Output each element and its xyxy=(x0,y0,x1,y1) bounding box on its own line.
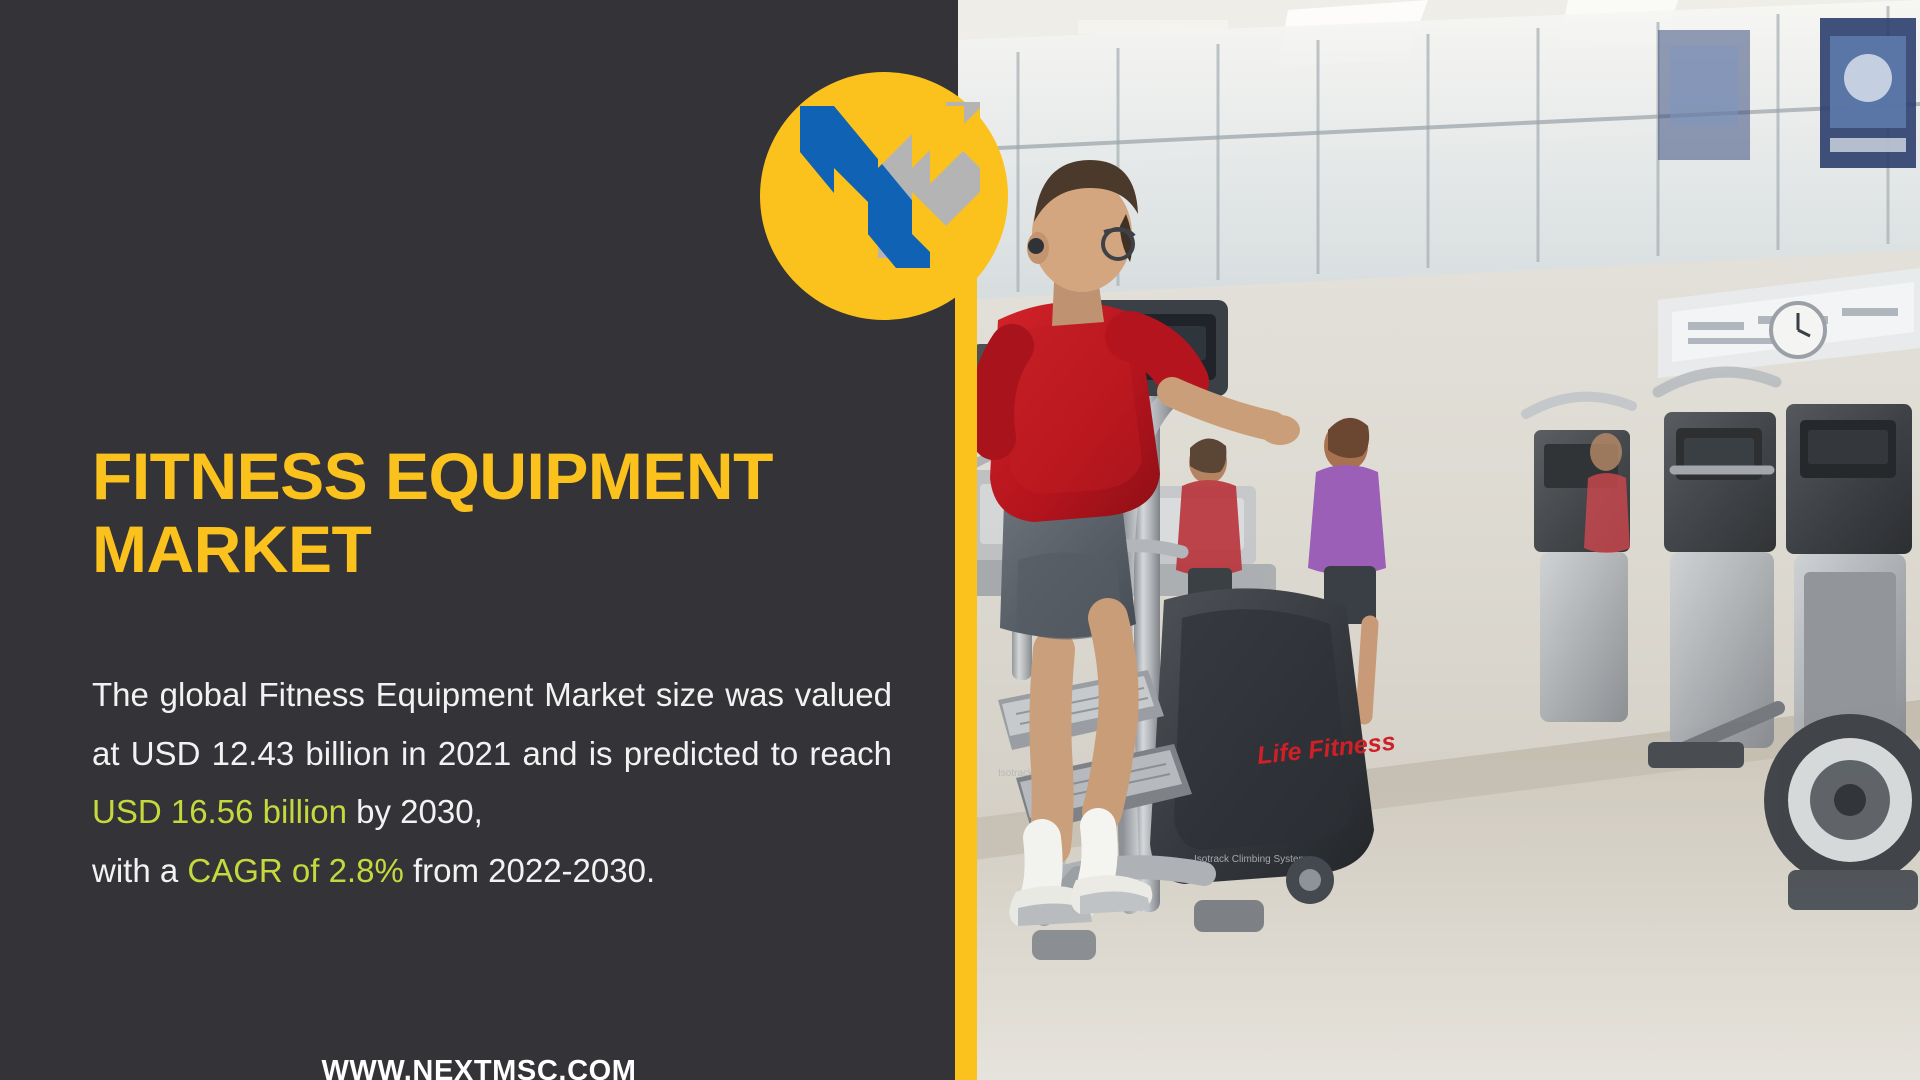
highlight-cagr: CAGR of 2.8% xyxy=(187,852,403,889)
banner-canvas: Life Fitness Isotrack Climbing System Is… xyxy=(0,0,1920,1080)
summary-segment-4: from 2022-2030. xyxy=(404,852,655,889)
summary-segment-3: with a xyxy=(92,852,187,889)
gym-photo: Life Fitness Isotrack Climbing System Is… xyxy=(958,0,1920,1080)
highlight-market-value: USD 16.56 billion xyxy=(92,793,347,830)
market-summary-text: The global Fitness Equipment Market size… xyxy=(92,666,892,901)
website-url[interactable]: WWW.NEXTMSC.COM xyxy=(0,1055,958,1080)
summary-segment-1: The global Fitness Equipment Market size… xyxy=(92,676,892,772)
title-line-1: FITNESS EQUIPMENT xyxy=(92,439,773,513)
page-title: FITNESS EQUIPMENT MARKET xyxy=(92,440,912,585)
svg-text:Isotrack Climbing System: Isotrack Climbing System xyxy=(1194,854,1307,865)
title-line-2: MARKET xyxy=(92,512,371,586)
nextmsc-logo[interactable] xyxy=(760,72,1008,320)
summary-segment-2: by 2030, xyxy=(347,793,483,830)
nm-monogram-icon xyxy=(760,72,1008,320)
gym-photo-illustration: Life Fitness Isotrack Climbing System Is… xyxy=(958,0,1920,1080)
